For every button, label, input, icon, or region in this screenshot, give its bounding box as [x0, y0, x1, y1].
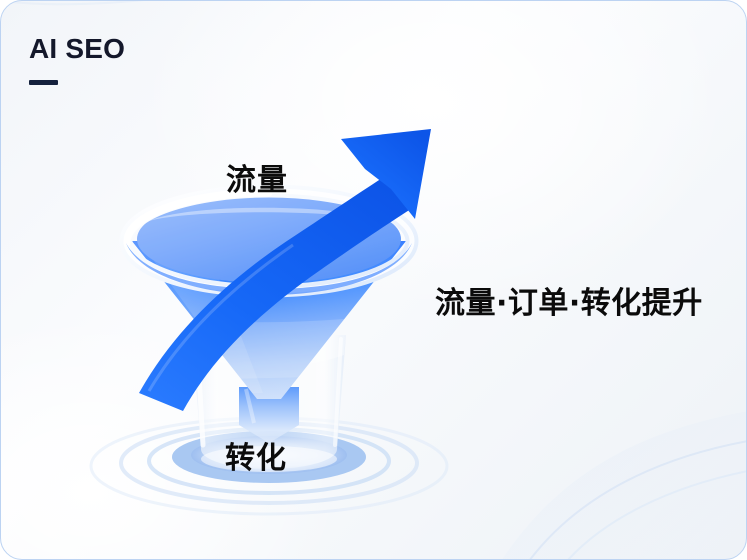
tagline-text: 流量·订单·转化提升: [435, 278, 703, 322]
title-underline-rule: [29, 80, 58, 85]
page-title: AI SEO: [29, 35, 125, 63]
heading-block: AI SEO: [29, 35, 125, 85]
label-traffic: 流量: [226, 155, 288, 199]
ai-seo-banner-card: AI SEO: [0, 0, 747, 560]
label-conversion: 转化: [225, 433, 287, 477]
